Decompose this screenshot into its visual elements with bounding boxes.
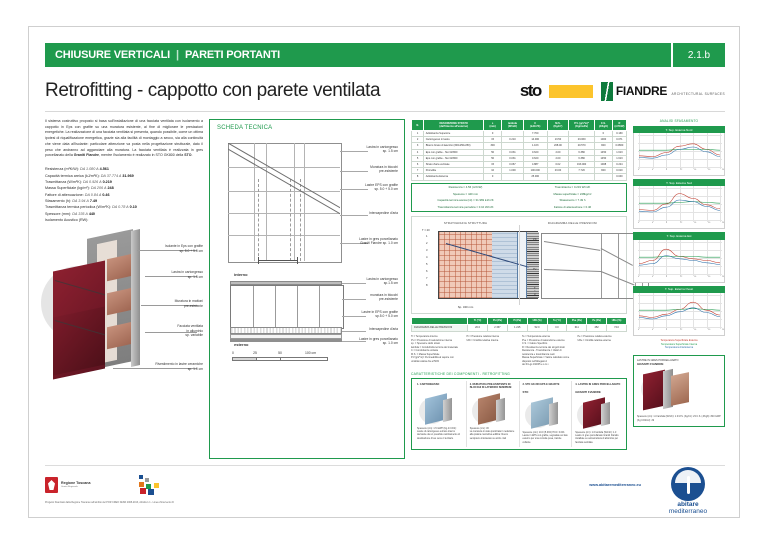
param-label: Resistenza (m²K/W): xyxy=(45,167,79,171)
component-card: 4. LASTRE IN GRES PORCELLANATOGRANITI FI… xyxy=(572,381,624,447)
callout-label: Lastra in cartongesso sp.1.5 cm xyxy=(336,277,398,286)
fiandre-name: FIANDRE xyxy=(616,84,667,98)
iso-label-line2: sp. 1.5 cm xyxy=(171,275,203,279)
chart-x-tick: 8 xyxy=(666,276,667,278)
chart-line xyxy=(639,308,720,310)
table-cell: 2 337 xyxy=(487,324,507,331)
page-title: Retrofitting - cappotto con parete venti… xyxy=(45,80,380,102)
pressure-gridline xyxy=(601,234,602,298)
pegasus-shield-icon xyxy=(45,477,58,493)
table-header-cell: Te (°C) xyxy=(547,317,567,324)
component-image xyxy=(417,392,463,426)
chart-x-tick: 16 xyxy=(694,276,696,278)
iso-label: Rivestimento in lastre ceramiche sp. 1.0… xyxy=(155,362,203,371)
chart-x-tick: 12 xyxy=(680,169,682,171)
param-new-value: 0.46 xyxy=(102,193,109,197)
abitare-mediterraneo-logo: abitare mediterraneo xyxy=(651,467,725,516)
pv-curve xyxy=(544,269,601,272)
iso-ceramic-panel xyxy=(53,307,105,376)
iso-label-line2: sp. 5.0 + 5.0 cm xyxy=(165,249,203,253)
callout-line2: pre-esistente xyxy=(336,169,398,173)
layer-eps xyxy=(230,327,342,334)
chart-x-tick: 24 xyxy=(722,222,724,224)
table-header-cell: URe (%) xyxy=(607,317,627,324)
table-header-cell: Pi (Pa) xyxy=(507,317,527,324)
diagram-y-tick: 6 xyxy=(426,270,428,273)
chart-x-tick: 4 xyxy=(652,276,653,278)
masonry-joint xyxy=(297,286,298,328)
sto-logo: sto xyxy=(520,81,541,101)
chart-line xyxy=(639,256,720,257)
intro-paragraph: Il sistema costruttivo proposto si basa … xyxy=(45,119,203,159)
logo-square xyxy=(139,475,143,479)
components-row: 1. CARTONGESSOSpessore (cm): 1.5 GWP (Kg… xyxy=(411,378,627,450)
param-new-value: 4.561 xyxy=(100,167,109,171)
chart-caption: T. Sup. Esterna Sud xyxy=(633,179,725,186)
product-card-desc: Spessore (cm): 1.0 lambda (W/mK): 1.3 M.… xyxy=(637,416,721,423)
summary-item: Resistenza = 4.56 (m²K/W) xyxy=(412,184,519,191)
footer: Regione Toscana Giunta Regionale Progett… xyxy=(45,473,725,513)
param-old-value: DA 0.84 A xyxy=(85,193,102,197)
legend-line: URi = Umidità relativa interna xyxy=(467,339,517,343)
chart-x-tick: 4 xyxy=(652,222,653,224)
param-label: Massa Superficiale (kg/m²): xyxy=(45,186,90,190)
poster-sheet: CHIUSURE VERTICALI | PARETI PORTANTI 2.1… xyxy=(28,26,740,518)
callout-label: Lastre in EPS con grafite sp.5.0 + 5.0 c… xyxy=(336,310,398,319)
param-new-value: 440 xyxy=(89,212,95,216)
callout-line2: sp. 1.5 cm xyxy=(336,149,398,153)
param-new-value: 31.969 xyxy=(122,174,133,178)
callout-label: muratura in blocchi pre-esistente xyxy=(336,293,398,302)
chart-x-tick: 16 xyxy=(694,329,696,331)
header-separator: | xyxy=(176,49,179,61)
funding-note: Progetto finanziato dalla Regione Toscan… xyxy=(45,501,174,504)
callout-label: Muratura in blocchi pre-esistente xyxy=(336,165,398,174)
param-label: Spessore (mm): xyxy=(45,212,71,216)
brand-logos: sto FIANDRE ARCHITECTURAL SURFACES xyxy=(520,81,725,101)
product-brick xyxy=(671,372,689,406)
iso-label: Lastra in cartongesso sp. 1.5 cm xyxy=(171,270,203,279)
product-ceramic-panel xyxy=(643,370,665,411)
param-new-value: 248 xyxy=(107,186,113,190)
table-header-cell: Pe (Pa) xyxy=(587,317,607,324)
legend-line: del D.Lgs 192/05 e s.m.i. xyxy=(522,363,572,367)
panel-divider xyxy=(519,225,520,305)
param-new-value: 0.10 xyxy=(130,205,137,209)
param-old-value: DA 0.78 A xyxy=(112,205,129,209)
table-header-cell: Pvi (Pa) xyxy=(487,317,507,324)
section-drawing-vertical: Lastra in cartongesso sp. 1.5 cm Muratur… xyxy=(218,139,398,265)
callout-line2: Graniti Fiandre sp. 1.0 cm xyxy=(336,241,398,245)
chart-caption: T. Sup. Esterna Ovest xyxy=(633,286,725,293)
component-card: 1. CARTONGESSOSpessore (cm): 1.5 GWP (Kg… xyxy=(414,381,467,447)
logo-square xyxy=(145,478,149,482)
diagram-y-tick: 8 xyxy=(426,284,428,287)
analysis-legend: Temperatura Superficiale Esterna Tempera… xyxy=(633,339,725,350)
chart-x-tick: 16 xyxy=(694,222,696,224)
header-category: CHIUSURE VERTICALI xyxy=(55,49,170,61)
callout-label: Intercapedine d'aria xyxy=(336,327,398,331)
analysis-charts: T. Sup. Esterna Nord04812162024T. Sup. E… xyxy=(633,126,725,336)
fiandre-mark-icon xyxy=(601,82,613,101)
fiandre-logo: FIANDRE ARCHITECTURAL SURFACES xyxy=(601,82,725,101)
summary-box: Resistenza = 4.56 (m²K/W)Trasmittanza = … xyxy=(411,183,627,212)
table-cell: 0 xyxy=(484,174,502,180)
table-cell: 25.000 xyxy=(523,174,547,180)
chart-plot-area: 04812162024 xyxy=(633,186,725,229)
chart-line xyxy=(639,302,720,317)
table-cell: 1 215 xyxy=(507,324,527,331)
chart-plot-area: 04812162024 xyxy=(633,133,725,176)
chart-x-tick: 20 xyxy=(708,276,710,278)
table-header-cell: M.S.(Kg/m²) xyxy=(547,120,569,131)
scale-tick-label: 100 cm xyxy=(305,351,316,355)
chart-x-tick: 16 xyxy=(694,169,696,171)
am-brand-line2: mediterraneo xyxy=(651,509,725,516)
scale-bar-fill xyxy=(233,358,256,360)
component-desc: Lastre in gres porcellanato Graniti Fian… xyxy=(575,435,621,445)
chart-x-tick: 8 xyxy=(666,169,667,171)
legend-line: Massa Superficiale = Valore calcolato co… xyxy=(522,356,572,363)
table-header-cell: lambda(W/mK) xyxy=(502,120,524,131)
component-title: 3. STO GK 800 EPS E GRAFITE xyxy=(523,383,569,390)
chart-x-axis: 04812162024 xyxy=(638,329,722,335)
stratigraphy-diagram-title: STRATIGRAFIA STRUTTURA xyxy=(412,221,519,225)
ps-label: Ps xyxy=(533,237,537,241)
summary-item: Spessore = 440 mm xyxy=(412,190,519,197)
chart-line xyxy=(639,194,720,211)
diagrams-panel: STRATIGRAFIA STRUTTURA T = 20 12345678 T… xyxy=(411,216,627,314)
header-breadcrumb: CHIUSURE VERTICALI | PARETI PORTANTI xyxy=(45,49,671,61)
header-code-badge: 2.1.b xyxy=(671,43,725,67)
chart-x-axis: 04812162024 xyxy=(638,222,722,228)
dimension-80 xyxy=(258,257,298,263)
param-label: Trasmittanza termica periodica (W/m²K): xyxy=(45,205,111,209)
legend-column-3: Te = Temperatura esternaPve = Pressione … xyxy=(522,335,572,367)
param-label: Isolamento Acustico (RW): xyxy=(45,218,88,222)
chart-plot-area: 04812162024 xyxy=(633,293,725,336)
ps-curve xyxy=(601,248,633,266)
param-old-value: DA 335 A xyxy=(72,212,88,216)
chart-x-tick: 20 xyxy=(708,169,710,171)
table-cell: 0.040 xyxy=(612,174,626,180)
stratigraphy-table: N.DESCRIZIONE STRATO(dall'interno all'es… xyxy=(411,119,627,181)
summary-item: Trasmittanza termica periodica = 0.10 W/… xyxy=(412,204,519,211)
chart-line xyxy=(639,202,720,204)
label-interno: interno xyxy=(234,272,248,277)
analysis-chart: T. Sup. Esterna Sud04812162024 xyxy=(633,179,725,229)
table-cell xyxy=(594,174,612,180)
pressure-header-row: Ti (°C)Pvi (Pa)Pi (Pa)URi (%)Te (°C)Pve … xyxy=(412,317,627,324)
product-card-brand: GRANITI FIANDRE xyxy=(637,362,721,366)
component-image xyxy=(523,396,569,430)
table-header-cell: URi (%) xyxy=(527,317,547,324)
legend-column-2: Pi = Pressione relativa internaURi = Umi… xyxy=(467,335,517,367)
table-cell xyxy=(547,174,569,180)
poster-page: CHIUSURE VERTICALI | PARETI PORTANTI 2.1… xyxy=(0,0,768,543)
title-row: Retrofitting - cappotto con parete venti… xyxy=(45,73,725,109)
table-header-cell: Ti (°C) xyxy=(468,317,488,324)
component-brand: STO xyxy=(523,390,569,394)
callout-line2: sp.5.0 + 5.0 cm xyxy=(336,314,398,318)
summary-item: Fattore di attenuazione = 0.46 xyxy=(519,204,626,211)
component-title: 1. CARTONGESSO xyxy=(417,383,463,390)
legend-column-1: Ti = Temperatura internaPvi = Pressione … xyxy=(411,335,461,367)
graphic-eps-layer xyxy=(492,232,517,298)
scale-tick-label: 25 xyxy=(253,351,257,355)
chart-series-group xyxy=(634,133,722,173)
header-subcategory: PARETI PORTANTI xyxy=(185,49,280,61)
table-cell: 8 xyxy=(412,174,424,180)
chart-x-tick: 12 xyxy=(680,329,682,331)
callout-line2: sp. 5.0 + 5.0 cm xyxy=(336,187,398,191)
component-title: 2. MURATURA PRE-ESISTENTE IN BLOCCHI DI … xyxy=(470,383,516,390)
table-row-label: DIAGRAMMA DELLE PRESSIONI xyxy=(412,324,468,331)
param-old-value: DA 1.080 A xyxy=(80,167,99,171)
pressure-gridline xyxy=(618,234,619,298)
component-title: 4. LASTRE IN GRES PORCELLANATO xyxy=(575,383,621,390)
column-analysis: ANALISI SFASAMENTO T. Sup. Esterna Nord0… xyxy=(633,119,725,459)
table-header-cell: R(m²K/W) xyxy=(612,120,626,131)
logo-square xyxy=(148,489,154,495)
chart-x-tick: 0 xyxy=(638,222,639,224)
callout-line2: pre-esistente xyxy=(336,297,398,301)
ps-curve xyxy=(544,241,601,251)
scale-bar-graphic xyxy=(232,357,328,361)
region-sub: Giunta Regionale xyxy=(61,486,91,489)
scheda-tecnica-title: SCHEDA TECNICA xyxy=(210,120,404,131)
chart-series-group xyxy=(634,240,722,280)
chart-x-tick: 0 xyxy=(638,276,639,278)
temp-top-label: T = 20 xyxy=(422,229,430,232)
summary-item: Trasmittanza = 0.219 W/m²K xyxy=(519,184,626,191)
components-title: CARATTERISTICHE DEI COMPONENTI - RETROFI… xyxy=(411,372,627,376)
intro-text-1: Il sistema costruttivo proposto si basa … xyxy=(45,119,203,157)
summary-item: Sfasamento = 7.49 h xyxy=(519,197,626,204)
dimension-tick xyxy=(258,257,259,264)
chart-caption: T. Sup. Esterna Nord xyxy=(633,126,725,133)
drawing-slope-group xyxy=(228,143,340,261)
analysis-chart: T. Sup. Esterna Nord04812162024 xyxy=(633,126,725,176)
param-old-value: DA 206 A xyxy=(91,186,107,190)
component-desc: La muratura in stato ipotizzata in redaz… xyxy=(470,431,516,441)
title-divider xyxy=(45,111,725,112)
graphic-brick-layer xyxy=(439,232,492,298)
component-image xyxy=(575,396,621,430)
callout-label: Lastre in gres porcellanato sp. 1.0 cm xyxy=(336,337,398,346)
logo-square xyxy=(140,488,146,494)
table-header-cell: Pve (Pa) xyxy=(567,317,587,324)
table-row: 8Adduttanza Esterna025.0000.040 xyxy=(412,174,627,180)
table-cell: Adduttanza Esterna xyxy=(424,174,484,180)
component-edge xyxy=(496,398,505,422)
stratigraphy-diagram: STRATIGRAFIA STRUTTURA T = 20 12345678 T… xyxy=(412,217,519,313)
analysis-title: ANALISI SFASAMENTO xyxy=(633,119,725,123)
param-new-value: 0.219 xyxy=(103,180,112,184)
legend-block: Ti = Temperatura internaPvi = Pressione … xyxy=(411,335,627,367)
table-cell: 0.0 xyxy=(547,324,567,331)
callout-label: Intercapedine d'aria xyxy=(336,211,398,215)
scale-tick-label: 50 xyxy=(278,351,282,355)
chart-x-tick: 8 xyxy=(666,329,667,331)
table-cell: 74.0 xyxy=(607,324,627,331)
param-label: Fattore di attenuazione: xyxy=(45,193,84,197)
scheda-tecnica-panel: SCHEDA TECNICA Lastra in cartongesso xyxy=(209,119,405,459)
column-technical-data: N.DESCRIZIONE STRATO(dall'interno all'es… xyxy=(411,119,627,459)
param-old-value: DA 0.926 A xyxy=(83,180,102,184)
chart-x-axis: 04812162024 xyxy=(638,169,722,175)
column-description: Il sistema costruttivo proposto si basa … xyxy=(45,119,203,459)
iso-label-line3: sp. variabile xyxy=(177,333,203,337)
layer-masonry xyxy=(230,285,344,329)
component-image xyxy=(470,392,516,426)
chart-x-tick: 12 xyxy=(680,276,682,278)
param-label: Sfasamento (h): xyxy=(45,199,71,203)
summary-item: Capacità termica areica (int) = 31.969 k… xyxy=(412,197,519,204)
component-edge xyxy=(549,402,558,426)
param-new-value: 7.49 xyxy=(90,199,97,203)
param-old-value: DA 3.94 A xyxy=(72,199,89,203)
footer-divider xyxy=(45,465,725,466)
chart-x-tick: 4 xyxy=(652,169,653,171)
intro-text-2: , mentre l'isolamento è realizzato in ST… xyxy=(99,153,184,157)
thickness-caption: Sp. 340 mm xyxy=(412,305,519,309)
analysis-chart: T. Sup. Esterna Est04812162024 xyxy=(633,232,725,282)
callout-label: Lastre in gres porcellanato Graniti Fian… xyxy=(336,237,398,246)
chart-x-tick: 0 xyxy=(638,169,639,171)
am-mark-icon xyxy=(671,467,705,501)
logo-square xyxy=(139,482,144,487)
table-cell: 52.0 xyxy=(527,324,547,331)
scale-tick xyxy=(280,358,281,360)
summary-item: Massa superficiale = 248kg/m² xyxy=(519,190,626,197)
chart-x-tick: 12 xyxy=(680,222,682,224)
intro-text-3: . xyxy=(191,153,192,157)
param-label: Capacità termica areica (kJ/m²K): xyxy=(45,174,100,178)
legend-column-4: Pe = Pressione relativa esternaURe = Umi… xyxy=(578,335,628,367)
component-edge xyxy=(443,398,452,422)
table-header-cell xyxy=(412,317,468,324)
chart-x-tick: 4 xyxy=(652,329,653,331)
chart-x-tick: 8 xyxy=(666,222,667,224)
scale-tick-label: 0 xyxy=(232,351,234,355)
diagram-y-tick: 1 xyxy=(426,235,428,238)
masonry-joint xyxy=(253,286,254,328)
table-header-cell: C.S.(J/KgK) xyxy=(594,120,612,131)
diagram-y-tick: 4 xyxy=(426,256,428,259)
chart-caption: T. Sup. Esterna Est xyxy=(633,232,725,239)
component-card: 2. MURATURA PRE-ESISTENTE IN BLOCCHI DI … xyxy=(467,381,520,447)
pressure-diagram-title: DIAGRAMMA DELLE PRESSIONI xyxy=(519,221,626,225)
legend-line: Resistenza - Trasmittanza = Valori di re… xyxy=(522,349,572,356)
callout-line1: Intercapedine d'aria xyxy=(336,327,398,331)
component-desc: Lastre in EPS con grafite, segnalate sul… xyxy=(523,435,569,445)
table-cell: 452 xyxy=(587,324,607,331)
product-card-image xyxy=(637,368,721,414)
product-card: LASTRE IN GRES PORCELLANATO GRANITI FIAN… xyxy=(633,355,725,427)
header-bar: CHIUSURE VERTICALI | PARETI PORTANTI 2.1… xyxy=(45,43,725,67)
masonry-joint xyxy=(319,286,320,328)
callout-label: Lastre EPS con grafite sp. 5.0 + 5.0 cm xyxy=(336,183,398,192)
diagram-y-tick: 3 xyxy=(426,249,428,252)
chart-x-tick: 0 xyxy=(638,329,639,331)
stratigraphy-body: 1Adduttanza Superiore07.70000.1302Carton… xyxy=(412,131,627,181)
pv-label: Pv xyxy=(533,267,537,271)
website-url[interactable]: www.abitaremediterraneo.eu xyxy=(589,483,641,487)
pressure-data-row: DIAGRAMMA DELLE PRESSIONI20.02 3371 2155… xyxy=(412,324,627,331)
yellow-swatch xyxy=(549,85,593,98)
isometric-wall-illustration: Isolante in Eps con grafite sp. 5.0 + 5.… xyxy=(45,228,203,378)
table-header-cell: s(mm) xyxy=(484,120,502,131)
diagram-y-tick: 5 xyxy=(426,263,428,266)
chart-x-axis: 04812162024 xyxy=(638,276,722,282)
chart-plot-area: 04812162024 xyxy=(633,240,725,283)
performance-params-list: Resistenza (m²K/W): DA 1.080 A 4.561Capa… xyxy=(45,166,203,223)
label-esterno: esterno xyxy=(234,342,248,347)
iso-label: Isolante in Eps con grafite sp. 5.0 + 5.… xyxy=(165,244,203,253)
component-brand: GRANITI FIANDRE xyxy=(575,390,621,394)
slope-line xyxy=(228,145,340,222)
iso-label-line2: pre-esistente xyxy=(175,304,203,308)
component-card: 3. STO GK 800 EPS E GRAFITESTOSpessore (… xyxy=(520,381,573,447)
chart-series-group xyxy=(634,186,722,226)
table-cell: 611 xyxy=(567,324,587,331)
param-row: Isolamento Acustico (RW): xyxy=(45,217,203,223)
table-header-cell: N. xyxy=(412,120,424,131)
section-drawing-horizontal: interno esterno Lastra in cartongesso sp… xyxy=(218,269,398,361)
chart-series-group xyxy=(634,293,722,333)
table-cell xyxy=(502,174,524,180)
param-label: Trasmittanza (W/m²K): xyxy=(45,180,82,184)
scale-tick xyxy=(256,358,257,360)
stratigraphy-header-row: N.DESCRIZIONE STRATO(dall'interno all'es… xyxy=(412,120,627,131)
legend-line: URe = Umidità relativa esterna xyxy=(578,339,628,343)
callout-line2: sp. 1.0 cm xyxy=(336,341,398,345)
chart-x-tick: 24 xyxy=(722,169,724,171)
dimension-line xyxy=(258,260,298,261)
regione-toscana-logo: Regione Toscana Giunta Regionale xyxy=(45,477,91,493)
pressure-table: Ti (°C)Pvi (Pa)Pi (Pa)URi (%)Te (°C)Pve … xyxy=(411,317,627,332)
param-old-value: DA 37.774 A xyxy=(101,174,122,178)
region-name: Regione Toscana xyxy=(61,481,91,485)
masonry-joint xyxy=(275,286,276,328)
fiandre-subtitle: ARCHITECTURAL SURFACES xyxy=(672,92,726,96)
regione-toscana-text: Regione Toscana Giunta Regionale xyxy=(61,481,91,489)
legend-ext-air: Temperatura Aria Esterna xyxy=(633,346,725,350)
table-cell xyxy=(569,174,595,180)
callout-line2: sp.1.5 cm xyxy=(336,281,398,285)
scale-bar: 02550100 cm xyxy=(232,351,328,361)
chart-x-tick: 24 xyxy=(722,329,724,331)
eu-funding-logo xyxy=(137,475,165,497)
table-header-cell: P.V. (g/s*m)*(Kg/msPa) xyxy=(569,120,595,131)
table-header-cell: DESCRIZIONE STRATO(dall'interno all'este… xyxy=(424,120,484,131)
callout-line1: Intercapedine d'aria xyxy=(336,211,398,215)
diagram-y-tick: 7 xyxy=(426,277,428,280)
iso-label: Facciata ventilata in alluminio sp. vari… xyxy=(177,324,203,337)
iso-label: Muratura in mattoni pre-esistente xyxy=(175,299,203,308)
pressure-diagram: DIAGRAMMA DELLE PRESSIONI Ps Pv xyxy=(519,217,626,313)
component-desc: Lastre di cartongesso sul lato interno d… xyxy=(417,431,463,441)
dimension-tick xyxy=(297,257,298,264)
intro-bold-1: Graniti Fiandre xyxy=(74,153,99,157)
callout-label: Lastra in cartongesso sp. 1.5 cm xyxy=(336,145,398,154)
table-header-cell: C(kJ/m²K) xyxy=(523,120,547,131)
analysis-chart: T. Sup. Esterna Ovest04812162024 xyxy=(633,286,725,336)
table-cell: 20.0 xyxy=(468,324,488,331)
diagram-y-tick: 2 xyxy=(426,242,428,245)
logo-square xyxy=(154,483,159,488)
